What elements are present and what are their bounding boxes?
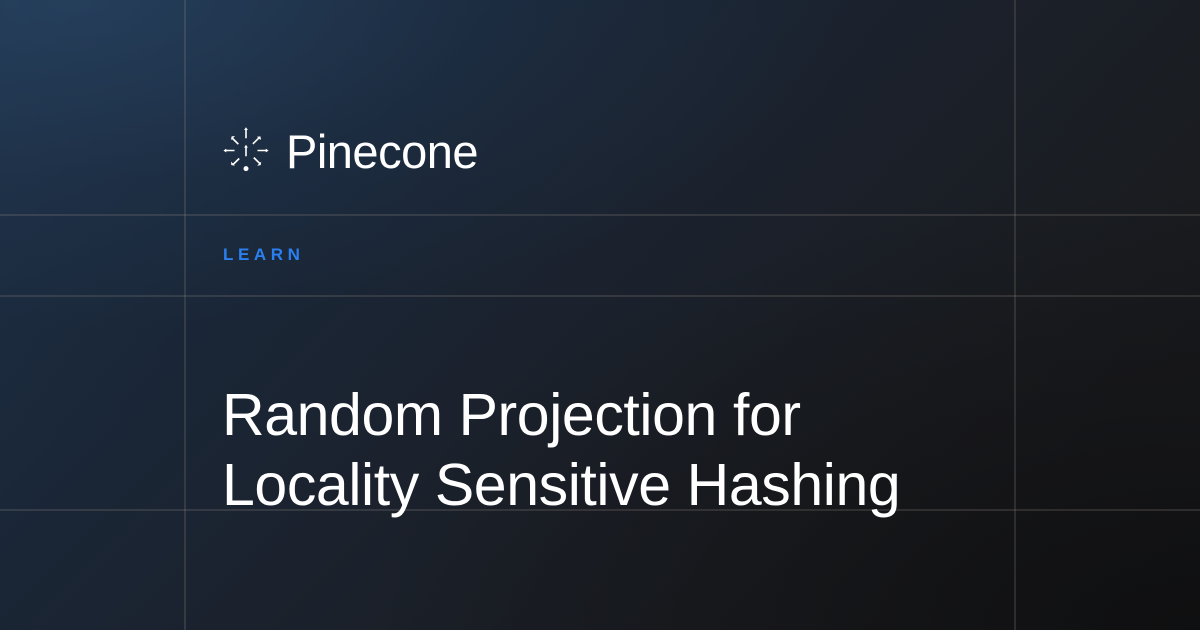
page-title: Random Projection for Locality Sensitive… xyxy=(222,380,1012,520)
pinecone-arrow-cluster-icon xyxy=(222,126,270,176)
brand-wordmark: Pinecone xyxy=(286,128,478,175)
page-title-line-1: Random Projection for xyxy=(222,380,1012,450)
category-label-learn: LEARN xyxy=(223,246,305,263)
social-card: Pinecone LEARN Random Projection for Loc… xyxy=(0,0,1200,630)
page-title-line-2: Locality Sensitive Hashing xyxy=(222,450,1012,520)
brand-lockup: Pinecone xyxy=(222,126,478,176)
card-content: Pinecone LEARN Random Projection for Loc… xyxy=(0,0,1200,630)
